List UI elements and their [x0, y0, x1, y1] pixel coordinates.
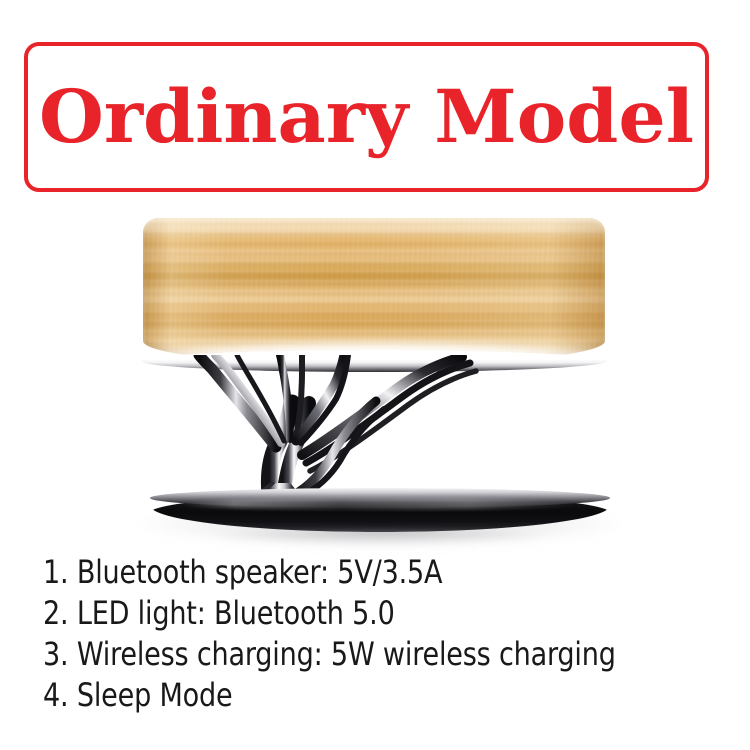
- base-sheen: [178, 498, 582, 510]
- feature-item-1: 1. Bluetooth speaker: 5V/3.5A: [43, 552, 701, 593]
- title-banner: Ordinary Model: [24, 42, 709, 192]
- feature-list: 1. Bluetooth speaker: 5V/3.5A 2. LED lig…: [43, 552, 743, 716]
- feature-item-3: 3. Wireless charging: 5W wireless chargi…: [43, 634, 701, 675]
- feature-item-4: 4. Sleep Mode: [43, 675, 701, 716]
- feature-item-2: 2. LED light: Bluetooth 5.0: [43, 593, 701, 634]
- page-title: Ordinary Model: [21, 46, 712, 188]
- shade-top-highlight: [143, 218, 605, 240]
- product-image: [0, 200, 750, 550]
- base-reflection: [190, 530, 570, 546]
- tree-branch-stand: [150, 355, 490, 503]
- lamp-shade-wood: [143, 218, 605, 363]
- charging-base-tray: [150, 488, 610, 536]
